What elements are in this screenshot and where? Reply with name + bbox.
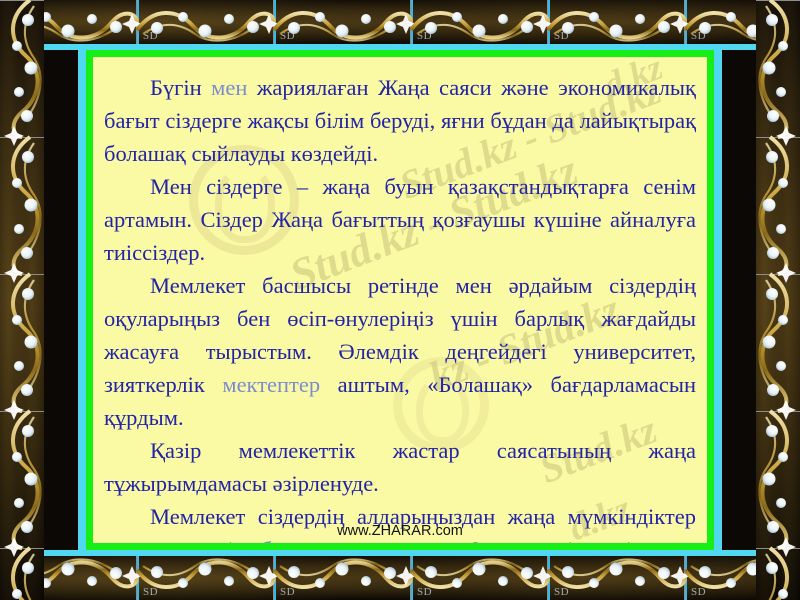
highlighted-word: мен [211,75,247,100]
text-run: Бүгін [150,75,211,100]
gold-vine-ornament-icon [0,0,800,44]
gold-vine-ornament-icon [0,556,800,600]
footer-url: www.ZHARAR.com [93,523,707,539]
highlighted-word: мектептер [222,372,320,397]
inner-rule-green-right [707,50,714,550]
gold-vine-ornament-icon [756,0,800,600]
text-run: Қазір мемлекеттік жастар саясатының жаңа… [104,438,696,496]
slide-content-area: Stud.kz - Stud.kz Stud.kz - Stud.kz kz -… [93,57,707,543]
paragraph-p3: Мемлекет басшысы ретінде мен әрдайым сіз… [104,269,696,434]
inner-rule-cyan-bottom [44,550,756,556]
slide-border-left: SDSDSDSDSD [0,0,44,600]
presentation-slide: SDSDSDSDSDSD [0,0,800,600]
inner-rule-green-top [86,50,714,57]
paragraph-p2: Мен сіздерге – жаңа буын қазақстандықтар… [104,170,696,269]
inner-rule-green-left [86,50,93,550]
inner-rule-cyan-left [78,44,86,556]
paragraph-p1: Бүгін мен жариялаған Жаңа саяси және эко… [104,71,696,170]
inner-rule-green-bottom [86,543,714,550]
slide-border-bottom: SDSDSDSDSDSD [0,556,800,600]
text-run: Мен сіздерге – жаңа буын қазақстандықтар… [104,174,696,265]
inner-rule-cyan-right [714,44,722,556]
gold-vine-ornament-icon [0,0,44,600]
speech-text-body: Бүгін мен жариялаған Жаңа саяси және эко… [93,57,707,543]
slide-border-right: SDSDSDSDSD [756,0,800,600]
paragraph-p4: Қазір мемлекеттік жастар саясатының жаңа… [104,434,696,500]
slide-border-top: SDSDSDSDSDSD [0,0,800,44]
